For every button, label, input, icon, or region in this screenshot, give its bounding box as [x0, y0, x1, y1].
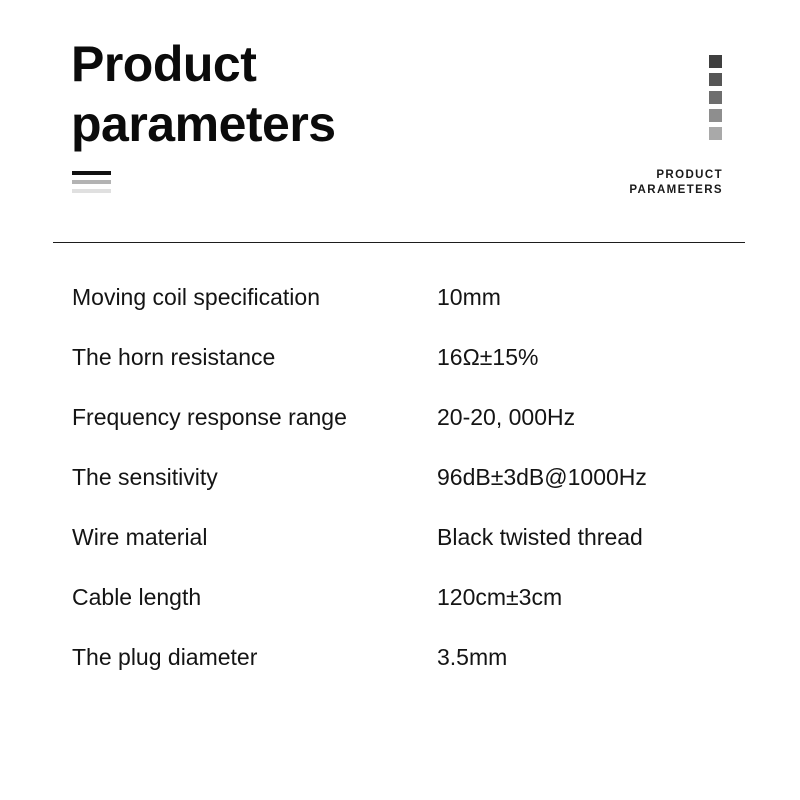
accent-square-4 [709, 109, 722, 122]
page-title-line-2: parameters [71, 94, 591, 154]
header-kicker: PRODUCT PARAMETERS [629, 168, 723, 198]
table-row: The sensitivity 96dB±3dB@1000Hz [0, 463, 800, 523]
spec-label: The sensitivity [72, 463, 218, 491]
header-kicker-line-2: PARAMETERS [629, 183, 723, 198]
spec-value: 3.5mm [437, 643, 507, 671]
spec-value: 10mm [437, 283, 501, 311]
underline-bar-dark [72, 171, 111, 175]
accent-square-5 [709, 127, 722, 140]
header: Product parameters PRODUCT PARAMETERS [0, 0, 800, 243]
spec-value: 16Ω±15% [437, 343, 538, 371]
spec-label: Frequency response range [72, 403, 347, 431]
accent-square-2 [709, 73, 722, 86]
accent-squares [709, 55, 723, 145]
underline-bar-medium [72, 180, 111, 184]
page-title-line-1: Product [71, 34, 591, 94]
table-row: The plug diameter 3.5mm [0, 643, 800, 703]
table-row: Cable length 120cm±3cm [0, 583, 800, 643]
header-divider [53, 242, 745, 243]
title-underline-bars [72, 171, 112, 198]
header-kicker-line-1: PRODUCT [629, 168, 723, 183]
spec-label: Wire material [72, 523, 207, 551]
table-row: Wire material Black twisted thread [0, 523, 800, 583]
product-parameters-sheet: Product parameters PRODUCT PARAMETERS Mo… [0, 0, 800, 800]
underline-bar-light [72, 189, 111, 193]
spec-label: Cable length [72, 583, 201, 611]
spec-label: Moving coil specification [72, 283, 320, 311]
spec-table: Moving coil specification 10mm The horn … [0, 283, 800, 703]
spec-value: 20-20, 000Hz [437, 403, 575, 431]
accent-square-1 [709, 55, 722, 68]
table-row: The horn resistance 16Ω±15% [0, 343, 800, 403]
table-row: Moving coil specification 10mm [0, 283, 800, 343]
accent-square-3 [709, 91, 722, 104]
spec-label: The plug diameter [72, 643, 257, 671]
spec-value: 96dB±3dB@1000Hz [437, 463, 647, 491]
spec-label: The horn resistance [72, 343, 275, 371]
page-title: Product parameters [71, 34, 591, 154]
spec-value: 120cm±3cm [437, 583, 562, 611]
table-row: Frequency response range 20-20, 000Hz [0, 403, 800, 463]
spec-value: Black twisted thread [437, 523, 643, 551]
